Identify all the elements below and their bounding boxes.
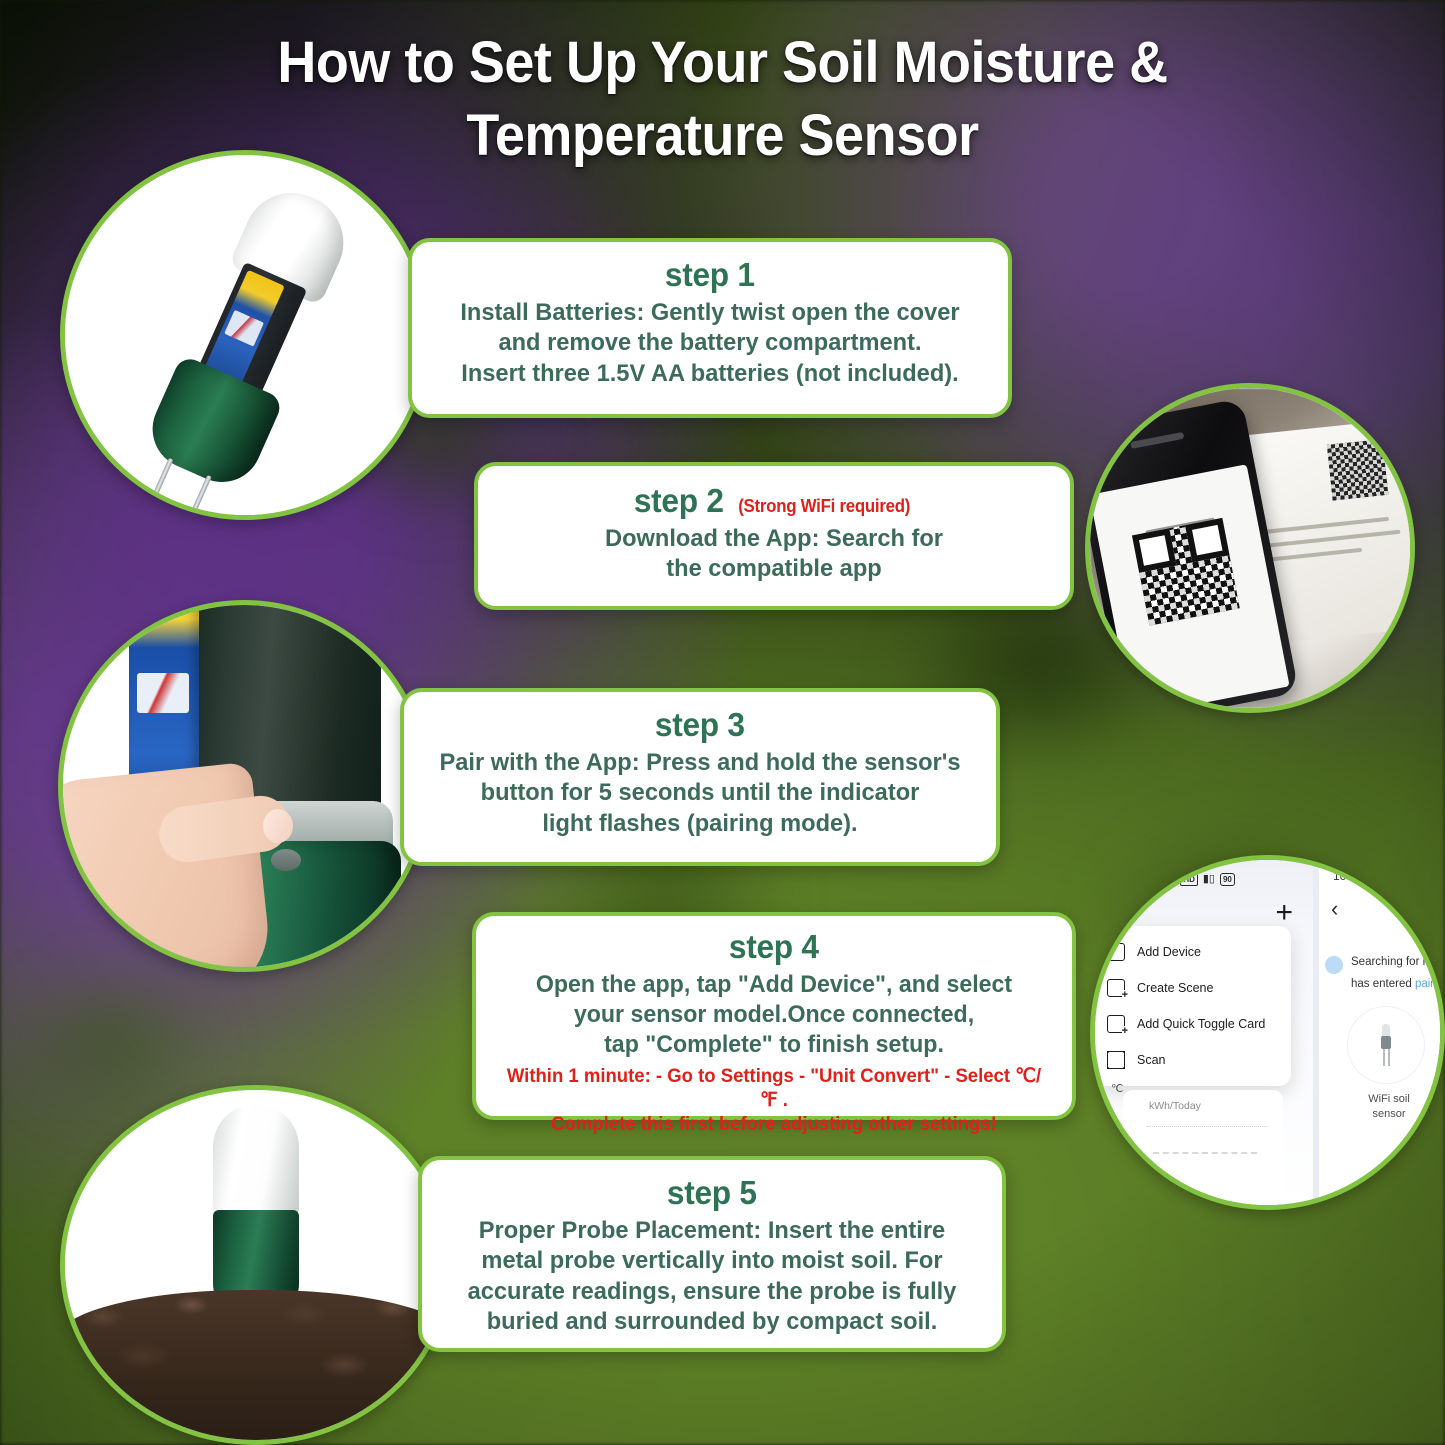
app-screen-home: ☐ ✵ ⏱ 14.4 HD ▮▯ 90 + Add Device +	[1101, 860, 1313, 1205]
soil-sensor-icon	[1380, 1024, 1392, 1066]
hd-badge: HD	[1180, 873, 1198, 886]
step-body-4: Open the app, tap "Add Device", and sele…	[502, 970, 1046, 1059]
hand	[58, 762, 274, 972]
sensor-device-illustration	[140, 175, 364, 495]
step-card-3: step 3 Pair with the App: Press and hold…	[400, 688, 1000, 866]
step-card-1: step 1 Install Batteries: Gently twist o…	[408, 238, 1012, 418]
photo-step1	[60, 150, 430, 520]
probe-pin-right	[177, 475, 212, 520]
step-note-wifi: (Strong WiFi required)	[738, 495, 910, 517]
nfc-icon: ☐	[1119, 874, 1129, 885]
photo-step3	[58, 600, 430, 972]
infographic-canvas: How to Set Up Your Soil Moisture & Tempe…	[0, 0, 1445, 1445]
front-camera-icon	[1110, 442, 1121, 453]
device-avatar[interactable]	[1347, 1006, 1425, 1084]
device-card[interactable]	[1123, 1090, 1283, 1210]
step-warning-4: Within 1 minute: - Go to Settings - "Uni…	[506, 1065, 1042, 1136]
step-heading-2: step 2 (Strong WiFi required)	[634, 482, 914, 520]
energy-label: kWh/Today	[1149, 1100, 1201, 1112]
step-body-3: Pair with the App: Press and hold the se…	[432, 748, 969, 839]
step-heading-label: step 2	[634, 482, 724, 520]
phone-screen	[1089, 464, 1289, 713]
status-dot-icon	[1325, 956, 1343, 974]
add-device-icon	[1107, 943, 1125, 961]
signal-icon: ▮▯	[1203, 874, 1215, 885]
app-screen-pairing: 10:23 ‹ Searching for n has entered pair…	[1319, 860, 1445, 1205]
status-bar: ☐ ✵ ⏱ 14.4 HD ▮▯ 90	[1119, 870, 1303, 888]
card-divider	[1147, 1126, 1267, 1127]
step-heading-label: step 5	[667, 1174, 757, 1212]
earpiece-speaker	[1130, 432, 1184, 449]
bluetooth-icon: ✵	[1134, 874, 1143, 885]
step-card-2: step 2 (Strong WiFi required) Download t…	[474, 462, 1074, 610]
menu-item-label: Create Scene	[1137, 981, 1213, 995]
pairing-line-2-link: pair	[1415, 978, 1434, 990]
menu-item-scan[interactable]: Scan	[1095, 1042, 1291, 1078]
step-card-5: step 5 Proper Probe Placement: Insert th…	[418, 1156, 1006, 1352]
menu-item-label: Scan	[1137, 1053, 1166, 1067]
create-scene-icon: +	[1107, 979, 1125, 997]
unit-label: ℃	[1111, 1082, 1123, 1095]
step-heading-1: step 1	[665, 256, 755, 294]
step-body-2: Download the App: Search for the compati…	[506, 524, 1043, 585]
menu-item-add-quick-toggle-card[interactable]: + Add Quick Toggle Card	[1095, 1006, 1291, 1042]
step-card-4: step 4 Open the app, tap "Add Device", a…	[472, 912, 1076, 1120]
step-heading-label: step 4	[729, 928, 819, 966]
step-heading-3: step 3	[655, 706, 745, 744]
photo-step5	[60, 1085, 452, 1445]
scan-icon	[1107, 1051, 1125, 1069]
notification-dot-icon	[1371, 871, 1379, 879]
probe-pin-left	[139, 458, 174, 520]
qr-code	[1132, 518, 1240, 626]
battery-indicator: 90	[1220, 873, 1235, 886]
card-divider2	[1153, 1152, 1257, 1154]
photo-step4: ☐ ✵ ⏱ 14.4 HD ▮▯ 90 + Add Device +	[1090, 855, 1445, 1210]
step-heading-4: step 4	[729, 928, 819, 966]
step-heading-5: step 5	[667, 1174, 757, 1212]
fingernail	[263, 809, 293, 843]
step-body-5: Proper Probe Placement: Insert the entir…	[450, 1216, 975, 1338]
menu-item-add-device[interactable]: Add Device	[1095, 934, 1291, 970]
sensor-top-white	[213, 1104, 299, 1216]
alarm-icon: ⏱	[1148, 874, 1157, 885]
pairing-line-1: Searching for n	[1351, 956, 1429, 968]
menu-item-label: Add Quick Toggle Card	[1137, 1017, 1265, 1031]
clock-label: 10:23	[1333, 869, 1363, 883]
sensor-vent	[271, 849, 301, 871]
device-name-label: WiFi soil sensor	[1319, 1092, 1445, 1122]
add-card-icon: +	[1107, 1015, 1125, 1033]
add-button[interactable]: +	[1275, 898, 1293, 928]
pairing-line-2-prefix: has entered	[1351, 978, 1415, 990]
menu-item-create-scene[interactable]: + Create Scene	[1095, 970, 1291, 1006]
soil-bed	[60, 1290, 452, 1440]
add-menu[interactable]: Add Device + Create Scene + Add Quick To…	[1095, 926, 1291, 1086]
manual-qr-code	[1327, 439, 1389, 501]
photo-step2	[1085, 383, 1415, 713]
chevron-left-icon[interactable]: ‹	[1331, 898, 1338, 920]
step-heading-label: step 3	[655, 706, 745, 744]
menu-item-label: Add Device	[1137, 945, 1201, 959]
step-body-1: Install Batteries: Gently twist open the…	[440, 298, 980, 389]
data-rate-label: 14.4	[1162, 875, 1176, 883]
pairing-line-2: has entered pair	[1351, 978, 1434, 990]
step-heading-label: step 1	[665, 256, 755, 294]
